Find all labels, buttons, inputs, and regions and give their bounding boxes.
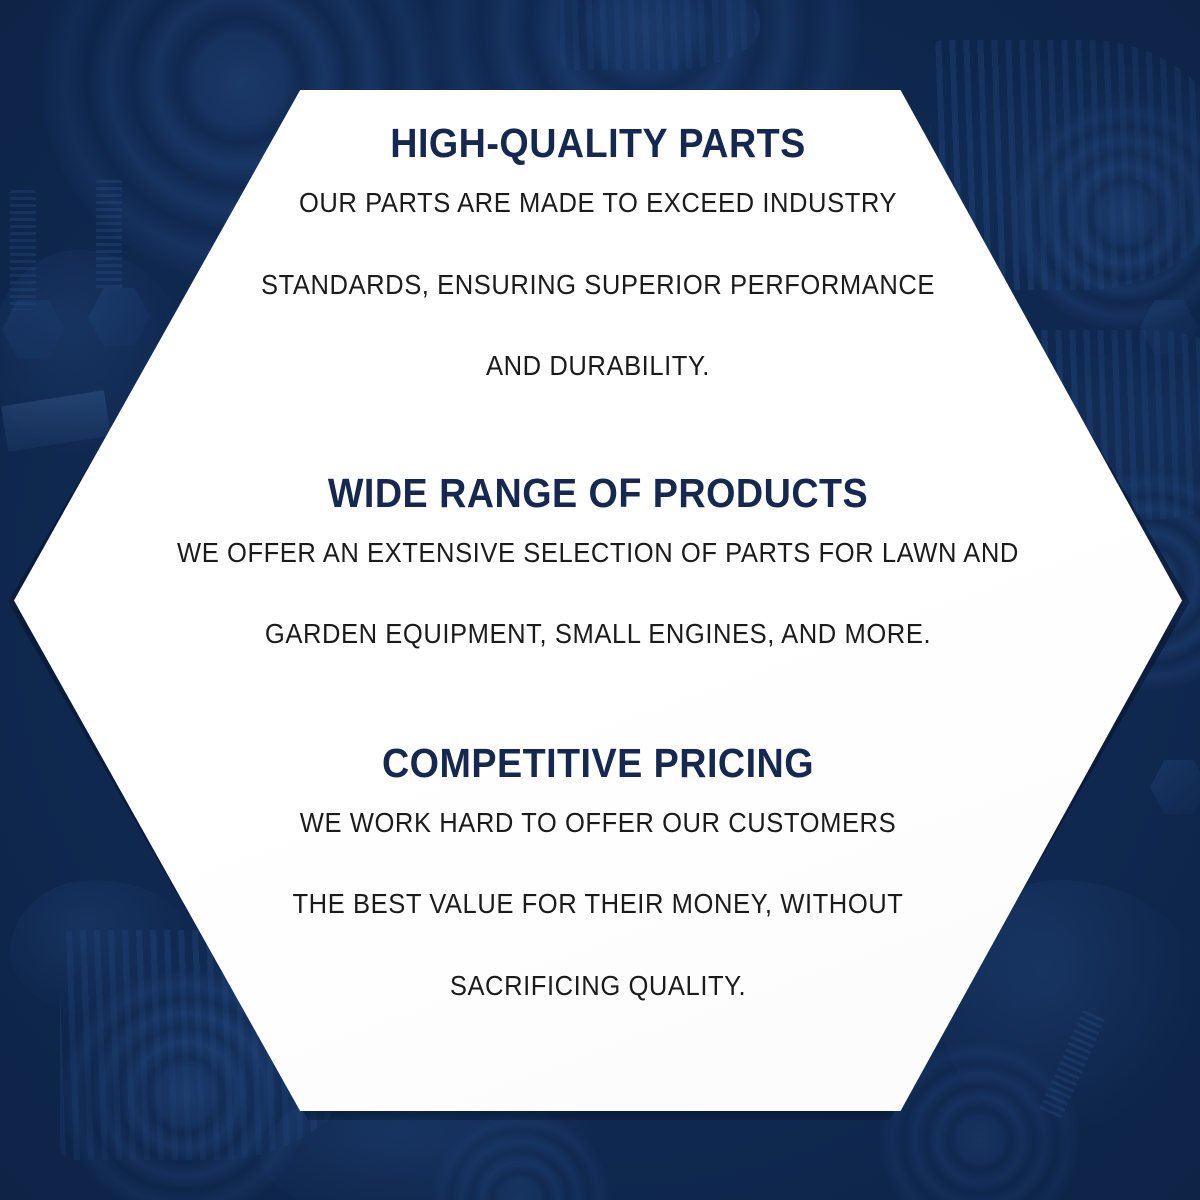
feature-body: WE OFFER AN EXTENSIVE SELECTION OF PARTS…	[88, 539, 1108, 648]
feature-body-line: STANDARDS, ENSURING SUPERIOR PERFORMANCE	[124, 271, 1073, 299]
feature-heading: WIDE RANGE OF PRODUCTS	[129, 472, 1067, 515]
feature-body-line: AND DURABILITY.	[124, 352, 1073, 380]
feature-section-wide-range-of-products: WIDE RANGE OF PRODUCTS WE OFFER AN EXTEN…	[88, 472, 1108, 648]
feature-section-competitive-pricing: COMPETITIVE PRICING WE WORK HARD TO OFFE…	[88, 742, 1108, 1000]
feature-body-line: GARDEN EQUIPMENT, SMALL ENGINES, AND MOR…	[124, 620, 1073, 648]
feature-body-line: SACRIFICING QUALITY.	[124, 972, 1073, 1000]
feature-body-line: WE WORK HARD TO OFFER OUR CUSTOMERS	[124, 809, 1073, 837]
feature-body-line: OUR PARTS ARE MADE TO EXCEED INDUSTRY	[124, 189, 1073, 217]
feature-body: WE WORK HARD TO OFFER OUR CUSTOMERS THE …	[88, 809, 1108, 1000]
feature-body: OUR PARTS ARE MADE TO EXCEED INDUSTRY ST…	[88, 189, 1108, 380]
features-list: HIGH-QUALITY PARTS OUR PARTS ARE MADE TO…	[88, 90, 1108, 999]
feature-heading: COMPETITIVE PRICING	[129, 742, 1067, 785]
feature-body-line: WE OFFER AN EXTENSIVE SELECTION OF PARTS…	[124, 539, 1073, 567]
feature-body-line: THE BEST VALUE FOR THEIR MONEY, WITHOUT	[124, 890, 1073, 918]
